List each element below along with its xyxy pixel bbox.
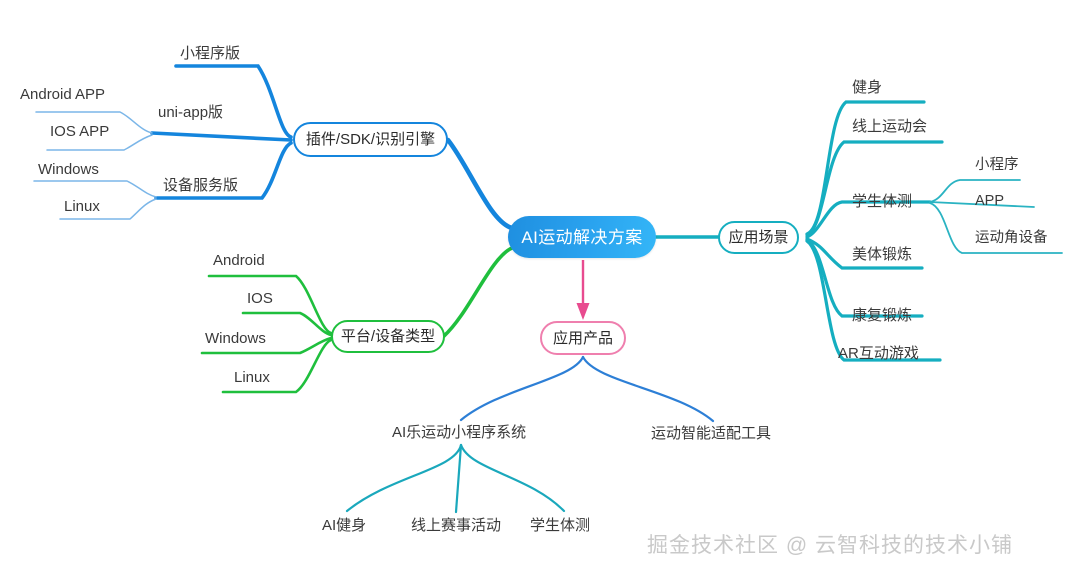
leaf-platform-android[interactable]: Android (213, 253, 265, 268)
node-application-scenario[interactable]: 应用场景 (718, 221, 799, 254)
leaf-ai-fitness[interactable]: AI健身 (322, 518, 366, 533)
edge-plugin-to-miniprogram (176, 66, 291, 137)
leaf-android-app[interactable]: Android APP (20, 87, 105, 102)
leaf-smart-sports-adaptation-tool[interactable]: 运动智能适配工具 (651, 426, 771, 441)
leaf-platform-linux-label: Linux (234, 369, 270, 386)
leaf-product-student-test[interactable]: 学生体测 (530, 518, 590, 533)
leaf-student-test-miniprogram-label: 小程序 (975, 157, 1019, 173)
leaf-linux-plugin-label: Linux (64, 198, 100, 215)
node-application-scenario-label: 应用场景 (728, 230, 788, 245)
edge-deviceservice-to-windows (34, 181, 156, 197)
leaf-student-test-sport-corner-device[interactable]: 运动角设备 (975, 231, 1048, 246)
leaf-aile-sports-miniprogram-system-label: AI乐运动小程序系统 (392, 424, 526, 441)
leaf-body-shaping-label: 美体锻炼 (852, 246, 912, 263)
leaf-ar-interactive-game-label: AR互动游戏 (838, 345, 919, 362)
leaf-student-physical-test-label: 学生体测 (852, 193, 912, 210)
arrowhead-product (577, 303, 590, 320)
leaf-fitness[interactable]: 健身 (852, 80, 882, 95)
leaf-device-service-version[interactable]: 设备服务版 (163, 178, 238, 193)
edge-scenario-to-online-meet (807, 142, 942, 235)
connector-layer (0, 0, 1076, 577)
node-root-label: AI运动解决方案 (521, 229, 642, 246)
edge-plugin-to-uniapp (152, 133, 291, 140)
leaf-ios-app-label: IOS APP (50, 123, 109, 140)
leaf-student-test-sport-corner-device-label: 运动角设备 (975, 230, 1048, 246)
node-application-product-label: 应用产品 (553, 331, 613, 346)
leaf-online-sports-meet-label: 线上运动会 (852, 118, 927, 135)
leaf-windows-plugin[interactable]: Windows (38, 162, 99, 177)
leaf-rehabilitation[interactable]: 康复锻炼 (852, 308, 912, 323)
leaf-aile-sports-miniprogram-system[interactable]: AI乐运动小程序系统 (392, 425, 526, 440)
edge-product-to-adapter-tool (583, 357, 713, 421)
edge-ailemini-to-ai-fitness (347, 445, 461, 511)
leaf-fitness-label: 健身 (852, 79, 882, 96)
leaf-windows-plugin-label: Windows (38, 161, 99, 178)
node-root[interactable]: AI运动解决方案 (508, 216, 656, 258)
leaf-platform-ios[interactable]: IOS (247, 291, 273, 306)
leaf-rehabilitation-label: 康复锻炼 (852, 307, 912, 324)
leaf-smart-sports-adaptation-tool-label: 运动智能适配工具 (651, 425, 771, 442)
node-plugin-sdk-engine[interactable]: 插件/SDK/识别引擎 (293, 122, 448, 157)
leaf-android-app-label: Android APP (20, 86, 105, 103)
leaf-device-service-version-label: 设备服务版 (163, 177, 238, 194)
leaf-ai-fitness-label: AI健身 (322, 517, 366, 534)
leaf-student-test-miniprogram[interactable]: 小程序 (975, 158, 1019, 173)
leaf-ios-app[interactable]: IOS APP (50, 124, 109, 139)
edge-product-to-ailemini (461, 357, 583, 420)
leaf-online-competition-activity[interactable]: 线上赛事活动 (411, 518, 501, 533)
leaf-student-physical-test[interactable]: 学生体测 (852, 194, 912, 209)
edge-root-to-platform (444, 248, 512, 336)
watermark-text: 掘金技术社区 @ 云智科技的技术小铺 (647, 534, 1013, 557)
leaf-student-test-app[interactable]: APP (975, 194, 1004, 209)
node-application-product[interactable]: 应用产品 (540, 321, 626, 355)
leaf-uniapp-version[interactable]: uni-app版 (158, 105, 223, 120)
leaf-linux-plugin[interactable]: Linux (64, 199, 100, 214)
leaf-platform-linux[interactable]: Linux (234, 370, 270, 385)
leaf-product-student-test-label: 学生体测 (530, 517, 590, 534)
edge-ailemini-to-student-test (461, 445, 564, 511)
leaf-ar-interactive-game[interactable]: AR互动游戏 (838, 346, 919, 361)
leaf-student-test-app-label: APP (975, 193, 1004, 209)
node-platform-device-type[interactable]: 平台/设备类型 (331, 320, 445, 353)
leaf-miniprogram-version[interactable]: 小程序版 (180, 46, 240, 61)
leaf-platform-android-label: Android (213, 252, 265, 269)
edge-ailemini-to-online-events (456, 445, 461, 512)
watermark: 掘金技术社区 @ 云智科技的技术小铺 (647, 535, 1013, 556)
leaf-body-shaping[interactable]: 美体锻炼 (852, 247, 912, 262)
leaf-online-competition-activity-label: 线上赛事活动 (411, 517, 501, 534)
node-plugin-sdk-engine-label: 插件/SDK/识别引擎 (306, 132, 435, 147)
edge-root-to-plugin (448, 140, 512, 228)
leaf-online-sports-meet[interactable]: 线上运动会 (852, 119, 927, 134)
mind-map-canvas: AI运动解决方案 插件/SDK/识别引擎 平台/设备类型 应用场景 应用产品 小… (0, 0, 1076, 577)
leaf-miniprogram-version-label: 小程序版 (180, 45, 240, 62)
node-platform-device-type-label: 平台/设备类型 (341, 329, 435, 344)
leaf-platform-windows[interactable]: Windows (205, 331, 266, 346)
leaf-platform-ios-label: IOS (247, 290, 273, 307)
leaf-uniapp-version-label: uni-app版 (158, 104, 223, 121)
leaf-platform-windows-label: Windows (205, 330, 266, 347)
